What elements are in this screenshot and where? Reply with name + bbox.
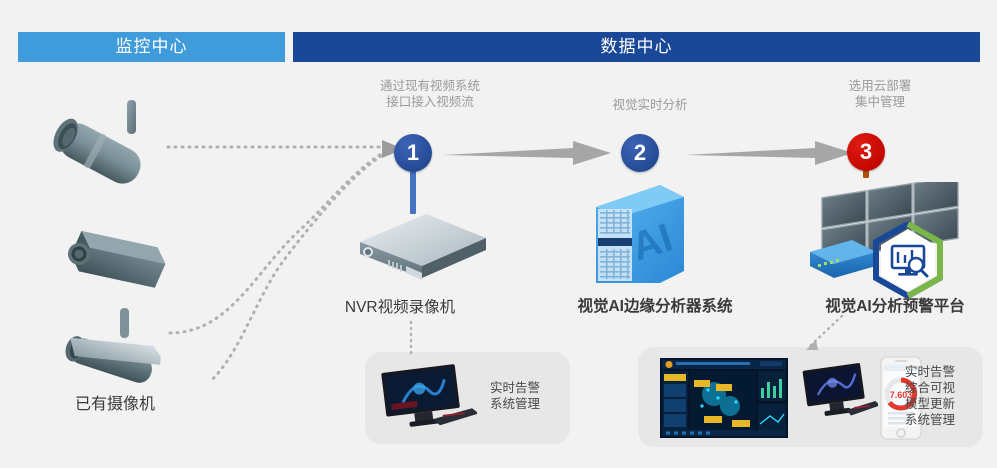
step-2-marker: 2 bbox=[621, 134, 659, 172]
step-1-marker: 1 bbox=[394, 134, 432, 172]
note-ingest: 通过现有视频系统 接口接入视频流 bbox=[330, 78, 530, 110]
callout-left-text: 实时告警 系统管理 bbox=[470, 380, 560, 412]
dashboard-screenshot bbox=[660, 358, 788, 438]
header-monitoring-center: 监控中心 bbox=[18, 32, 285, 62]
arrow-step1-step2 bbox=[443, 140, 615, 166]
cameras-label: 已有摄像机 bbox=[20, 390, 210, 414]
callout-right-connector bbox=[790, 312, 850, 354]
caption-ai-edge: 视觉AI边缘分析器系统 bbox=[540, 294, 770, 316]
arrow-step2-step3 bbox=[685, 140, 857, 166]
right-monitor-image bbox=[800, 362, 878, 434]
ai-platform-badge bbox=[872, 222, 944, 298]
callout-left-connector bbox=[405, 320, 445, 360]
diagram-canvas: 监控中心 数据中心 bbox=[0, 0, 997, 468]
caption-nvr: NVR视频录像机 bbox=[300, 295, 500, 317]
left-monitor-image bbox=[372, 362, 477, 434]
nvr-device bbox=[352, 208, 492, 288]
callout-right-text: 实时告警 综合可视 模型更新 系统管理 bbox=[890, 364, 970, 428]
step-3-marker: 3 bbox=[847, 133, 885, 171]
ai-edge-device: AI bbox=[572, 183, 690, 295]
note-analysis: 视觉实时分析 bbox=[570, 97, 730, 113]
note-cloud: 选用云部署 集中管理 bbox=[790, 78, 970, 110]
header-data-center: 数据中心 bbox=[293, 32, 980, 62]
